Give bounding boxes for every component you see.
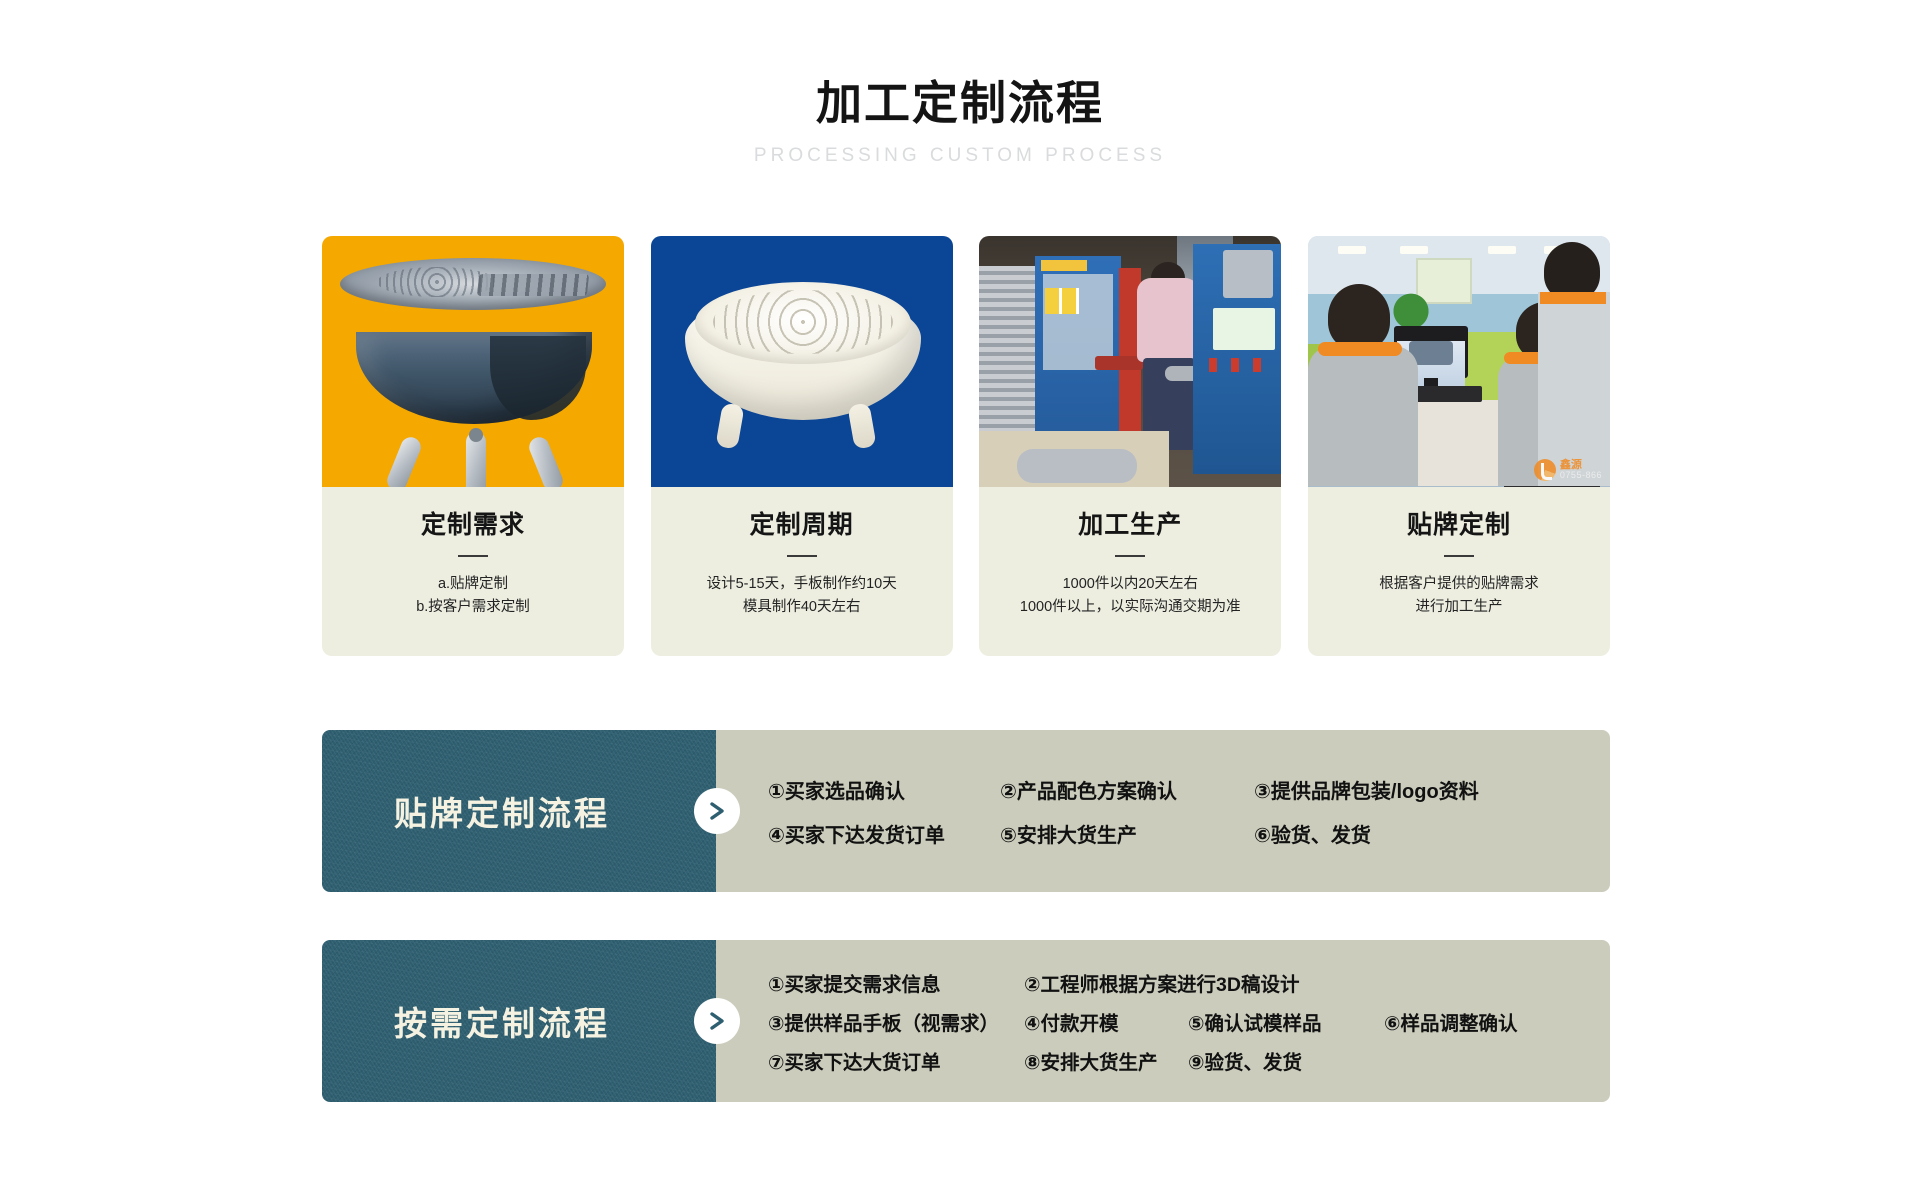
process-card-1[interactable]: 定制需求 a.贴牌定制 b.按客户需求定制 bbox=[322, 236, 624, 656]
grill-leg-shape bbox=[466, 432, 486, 487]
page-title: 加工定制流程 bbox=[0, 78, 1920, 129]
card-title: 定制周期 bbox=[750, 513, 854, 538]
orange-collar-shape bbox=[1318, 342, 1402, 356]
process-card-body: 贴牌定制 根据客户提供的贴牌需求 进行加工生产 bbox=[1308, 487, 1610, 656]
process-step: ⑨验货、发货 bbox=[1188, 1046, 1302, 1075]
card-description-line: b.按客户需求定制 bbox=[416, 596, 530, 619]
person-body-shape bbox=[1538, 292, 1610, 486]
prototype-foot-shape bbox=[715, 402, 744, 449]
card-title: 加工生产 bbox=[1078, 513, 1182, 538]
prototype-maze-pattern bbox=[713, 290, 893, 354]
grill-bowl-shape bbox=[356, 332, 592, 424]
process-step: ⑤安排大货生产 bbox=[1000, 819, 1254, 848]
process-step: ⑥验货、发货 bbox=[1254, 819, 1371, 848]
grill-leg-shape bbox=[526, 434, 566, 487]
banner-step-row: ①买家选品确认 ②产品配色方案确认 ③提供品牌包装/logo资料 bbox=[768, 767, 1610, 811]
brand-logo-icon bbox=[1534, 459, 1556, 481]
design-office-photo: 鑫源 0755-866 bbox=[1308, 236, 1610, 487]
banner-step-row: ⑦买家下达大货订单 ⑧安排大货生产 ⑨验货、发货 bbox=[768, 1041, 1610, 1080]
process-step: ③提供品牌包装/logo资料 bbox=[1254, 775, 1479, 804]
process-step: ⑥样品调整确认 bbox=[1384, 1007, 1518, 1036]
card-description-line: 设计5-15天，手板制作约10天 bbox=[707, 573, 897, 596]
process-step: ②产品配色方案确认 bbox=[1000, 775, 1254, 804]
card-divider bbox=[1115, 555, 1145, 557]
page-header: 加工定制流程 PROCESSING CUSTOM PROCESS bbox=[0, 78, 1920, 167]
banner-step-row: ④买家下达发货订单 ⑤安排大货生产 ⑥验货、发货 bbox=[768, 811, 1610, 855]
stacked-parts-shape bbox=[979, 266, 1037, 436]
card-description-line: a.贴牌定制 bbox=[438, 573, 508, 596]
exploded-grill-product-render bbox=[322, 236, 624, 487]
ondemand-process-banner: 按需定制流程 ①买家提交需求信息 ②工程师根据方案进行3D稿设计 ③提供样品手板… bbox=[322, 940, 1610, 1102]
process-card-2[interactable]: 定制周期 设计5-15天，手板制作约10天 模具制作40天左右 bbox=[651, 236, 953, 656]
process-step: ⑧安排大货生产 bbox=[1024, 1046, 1188, 1075]
process-card-4[interactable]: 鑫源 0755-866 贴牌定制 根据客户提供的贴牌需求 进行加工生产 bbox=[1308, 236, 1610, 656]
process-step: ②工程师根据方案进行3D稿设计 bbox=[1024, 968, 1299, 997]
process-step: ⑦买家下达大货订单 bbox=[768, 1046, 1024, 1075]
page-root: 加工定制流程 PROCESSING CUSTOM PROCESS 定制需求 a.… bbox=[0, 0, 1920, 1200]
banner-label-panel: 按需定制流程 bbox=[322, 940, 716, 1102]
chevron-right-icon[interactable] bbox=[694, 998, 740, 1044]
banner-step-row: ①买家提交需求信息 ②工程师根据方案进行3D稿设计 bbox=[768, 963, 1610, 1002]
person-head-shape bbox=[1328, 284, 1390, 350]
process-card-3[interactable]: 加工生产 1000件以内20天左右 1000件以上，以实际沟通交期为准 bbox=[979, 236, 1281, 656]
plant-shape bbox=[1384, 280, 1438, 332]
process-card-body: 定制需求 a.贴牌定制 b.按客户需求定制 bbox=[322, 487, 624, 656]
machine-label-shape bbox=[1041, 260, 1087, 271]
banner-label: 按需定制流程 bbox=[394, 997, 610, 1045]
chevron-right-icon[interactable] bbox=[694, 788, 740, 834]
banner-steps-panel: ①买家提交需求信息 ②工程师根据方案进行3D稿设计 ③提供样品手板（视需求） ④… bbox=[716, 940, 1610, 1102]
page-subtitle: PROCESSING CUSTOM PROCESS bbox=[0, 145, 1920, 167]
process-step: ⑤确认试模样品 bbox=[1188, 1007, 1384, 1036]
card-title: 贴牌定制 bbox=[1407, 513, 1511, 538]
molded-part-shape bbox=[1017, 449, 1137, 483]
oem-process-banner: 贴牌定制流程 ①买家选品确认 ②产品配色方案确认 ③提供品牌包装/logo资料 … bbox=[322, 730, 1610, 892]
card-description-line: 1000件以上，以实际沟通交期为准 bbox=[1020, 596, 1241, 619]
warning-sticker-icon bbox=[1045, 288, 1079, 314]
process-step: ①买家选品确认 bbox=[768, 775, 1000, 804]
brand-watermark: 鑫源 0755-866 bbox=[1534, 459, 1602, 481]
orange-collar-shape bbox=[1540, 292, 1606, 304]
card-description-line: 进行加工生产 bbox=[1415, 596, 1502, 619]
process-step: ①买家提交需求信息 bbox=[768, 968, 1024, 997]
card-description-line: 1000件以内20天左右 bbox=[1063, 573, 1198, 596]
card-divider bbox=[458, 555, 488, 557]
factory-production-photo bbox=[979, 236, 1281, 487]
person-body-shape bbox=[1308, 346, 1418, 486]
card-description-line: 根据客户提供的贴牌需求 bbox=[1379, 573, 1539, 596]
ceiling-light-shape bbox=[1400, 246, 1428, 254]
card-divider bbox=[787, 555, 817, 557]
card-description-line: 模具制作40天左右 bbox=[743, 596, 861, 619]
worker-shirt-shape bbox=[1137, 278, 1199, 362]
panel-display-shape bbox=[1223, 250, 1273, 298]
process-card-list: 定制需求 a.贴牌定制 b.按客户需求定制 定制周期 设计5-15天，手板制作约… bbox=[322, 236, 1610, 656]
banner-step-row: ③提供样品手板（视需求） ④付款开模 ⑤确认试模样品 ⑥样品调整确认 bbox=[768, 1002, 1610, 1041]
banner-label: 贴牌定制流程 bbox=[394, 787, 610, 835]
ceiling-light-shape bbox=[1488, 246, 1516, 254]
watermark-phone: 0755-866 bbox=[1560, 471, 1602, 480]
process-step: ④付款开模 bbox=[1024, 1007, 1188, 1036]
white-prototype-sample-photo bbox=[651, 236, 953, 487]
card-divider bbox=[1444, 555, 1474, 557]
ceiling-light-shape bbox=[1338, 246, 1366, 254]
process-card-body: 定制周期 设计5-15天，手板制作约10天 模具制作40天左右 bbox=[651, 487, 953, 656]
process-step: ③提供样品手板（视需求） bbox=[768, 1007, 1024, 1036]
panel-display-shape bbox=[1213, 308, 1275, 350]
card-title: 定制需求 bbox=[421, 513, 525, 538]
prototype-foot-shape bbox=[847, 402, 876, 449]
banner-steps-panel: ①买家选品确认 ②产品配色方案确认 ③提供品牌包装/logo资料 ④买家下达发货… bbox=[716, 730, 1610, 892]
panel-buttons-shape bbox=[1209, 358, 1275, 372]
process-card-body: 加工生产 1000件以内20天左右 1000件以上，以实际沟通交期为准 bbox=[979, 487, 1281, 656]
grill-leg-shape bbox=[384, 434, 424, 487]
red-bar-shape bbox=[1095, 356, 1143, 370]
banner-label-panel: 贴牌定制流程 bbox=[322, 730, 716, 892]
grill-lid-shape bbox=[340, 258, 606, 310]
process-step: ④买家下达发货订单 bbox=[768, 819, 1000, 848]
